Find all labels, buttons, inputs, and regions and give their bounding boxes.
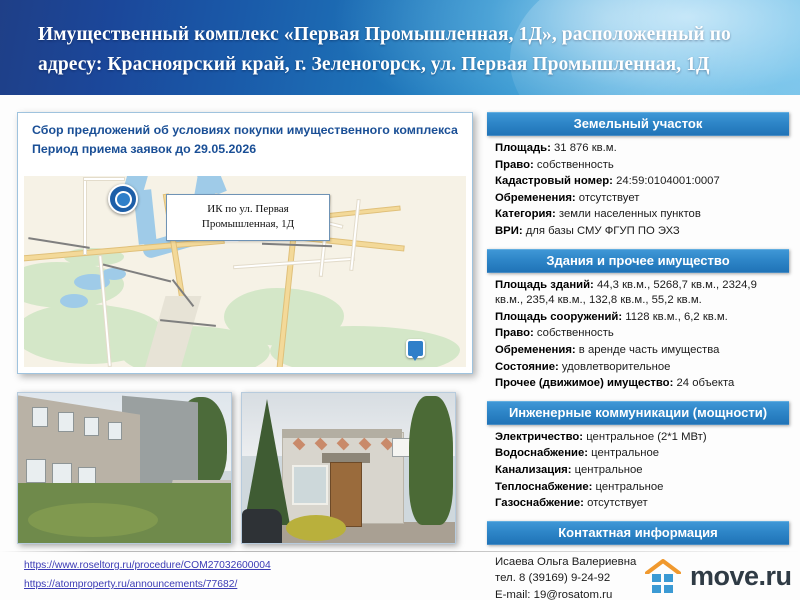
info-row: Площадь сооружений: 1128 кв.м., 6,2 кв.м… xyxy=(495,310,787,326)
map-marker-secondary[interactable] xyxy=(406,339,425,358)
grid-cell xyxy=(652,585,661,593)
map-callout-label: ИК по ул. Первая Промышленная, 1Д xyxy=(166,194,330,241)
info-value: 31 876 кв.м. xyxy=(551,142,617,154)
page-title-line1: Имущественный комплекс «Первая Промышлен… xyxy=(38,24,731,45)
map-road-minor xyxy=(84,178,124,180)
info-label: Газоснабжение: xyxy=(495,497,584,509)
map-callout-line2: Промышленная, 1Д xyxy=(171,217,325,232)
map-road-minor xyxy=(84,180,86,254)
footer-divider xyxy=(0,551,800,552)
property-photo-building[interactable] xyxy=(17,392,232,544)
info-label: Право: xyxy=(495,159,534,171)
section-body-utilities: Электричество: центральное (2*1 МВт) Вод… xyxy=(487,430,789,512)
info-value: центральное xyxy=(588,447,659,459)
map-caption-line2: комплекса xyxy=(393,123,458,137)
info-row: Состояние: удовлетворительное xyxy=(495,360,787,376)
link-roseltorg[interactable]: https://www.roseltorg.ru/procedure/COM27… xyxy=(24,556,271,575)
map-marker-dot xyxy=(115,191,132,208)
section-header-land: Земельный участок xyxy=(487,112,789,136)
info-value: центральное xyxy=(592,481,663,493)
info-label: Право: xyxy=(495,327,534,339)
info-panel: Земельный участок Площадь: 31 876 кв.м. … xyxy=(487,112,789,603)
info-value: центральное xyxy=(572,464,643,476)
info-row: Обременения: в аренде часть имущества xyxy=(495,343,787,359)
section-header-buildings: Здания и прочее имущество xyxy=(487,249,789,273)
photo-window xyxy=(84,417,99,436)
info-label: Состояние: xyxy=(495,361,559,373)
section-header-utilities: Инженерные коммуникации (мощности) xyxy=(487,401,789,425)
info-row: Право: собственность xyxy=(495,158,787,174)
info-label: Кадастровый номер: xyxy=(495,175,613,187)
header-banner: Имущественный комплекс «Первая Промышлен… xyxy=(0,0,800,95)
page-title: Имущественный комплекс «Первая Промышлен… xyxy=(38,20,768,80)
info-row: Теплоснабжение: центральное xyxy=(495,480,787,496)
info-label: Канализация: xyxy=(495,464,572,476)
grid-cell xyxy=(664,585,673,593)
property-photo-house[interactable] xyxy=(241,392,456,544)
map-caption-line1: Сбор предложений об условиях покупки иму… xyxy=(32,123,390,137)
info-value: собственность xyxy=(534,159,614,171)
info-label: Категория: xyxy=(495,208,556,220)
brand-name: move.ru xyxy=(690,561,792,592)
info-row: Прочее (движимое) имущество: 24 объекта xyxy=(495,376,787,392)
info-label: Прочее (движимое) имущество: xyxy=(495,377,673,389)
photo-car xyxy=(242,509,282,543)
grid-cell xyxy=(664,574,673,582)
spacer xyxy=(487,393,789,401)
photo-window xyxy=(32,407,48,427)
info-value: земли населенных пунктов xyxy=(556,208,701,220)
map-view[interactable]: ИК по ул. Первая Промышленная, 1Д xyxy=(24,176,466,367)
info-value: 24 объекта xyxy=(673,377,734,389)
map-lake xyxy=(60,294,88,308)
photo-bush xyxy=(409,396,453,525)
info-label: Обременения: xyxy=(495,344,576,356)
info-value: отсутствует xyxy=(576,192,640,204)
info-row: Площадь зданий: 44,3 кв.м., 5268,7 кв.м.… xyxy=(495,278,787,309)
map-caption-deadline: Период приема заявок до 29.05.2026 xyxy=(32,141,460,158)
info-row: Право: собственность xyxy=(495,326,787,342)
info-label: Обременения: xyxy=(495,192,576,204)
info-value: собственность xyxy=(534,327,614,339)
info-value: 1128 кв.м., 6,2 кв.м. xyxy=(622,311,728,323)
section-header-contacts: Контактная информация xyxy=(487,521,789,545)
info-value: удовлетворительное xyxy=(559,361,671,373)
photo-window xyxy=(108,422,122,440)
info-label: ВРИ: xyxy=(495,225,523,237)
slide-root: Имущественный комплекс «Первая Промышлен… xyxy=(0,0,800,600)
info-label: Теплоснабжение: xyxy=(495,481,592,493)
brand-logo[interactable]: move.ru xyxy=(645,559,792,593)
photo-grass-patch xyxy=(28,503,158,537)
map-caption: Сбор предложений об условиях покупки иму… xyxy=(18,113,472,163)
info-label: Площадь зданий: xyxy=(495,279,594,291)
photo-window xyxy=(58,412,74,432)
photo-flowerbed xyxy=(286,515,346,541)
spacer xyxy=(487,513,789,521)
grid-icon xyxy=(652,574,673,593)
info-value: отсутствует xyxy=(584,497,648,509)
grid-cell xyxy=(652,574,661,582)
link-atomproperty[interactable]: https://atomproperty.ru/announcements/77… xyxy=(24,575,271,594)
info-row: ВРИ: для базы СМУ ФГУП ПО ЭХЗ xyxy=(495,224,787,240)
info-row: Обременения: отсутствует xyxy=(495,191,787,207)
footer-links: https://www.roseltorg.ru/procedure/COM27… xyxy=(24,556,271,594)
info-row: Категория: земли населенных пунктов xyxy=(495,207,787,223)
info-value: для базы СМУ ФГУП ПО ЭХЗ xyxy=(523,225,680,237)
info-row: Водоснабжение: центральное xyxy=(495,446,787,462)
spacer xyxy=(487,241,789,249)
section-body-buildings: Площадь зданий: 44,3 кв.м., 5268,7 кв.м.… xyxy=(487,278,789,392)
info-value: в аренде часть имущества xyxy=(576,344,720,356)
info-label: Площадь: xyxy=(495,142,551,154)
section-body-land: Площадь: 31 876 кв.м. Право: собственнос… xyxy=(487,141,789,240)
roof-icon xyxy=(645,559,681,574)
info-row: Электричество: центральное (2*1 МВт) xyxy=(495,430,787,446)
info-row: Кадастровый номер: 24:59:0104001:0007 xyxy=(495,174,787,190)
photo-window xyxy=(292,465,328,505)
info-row: Канализация: центральное xyxy=(495,463,787,479)
photo-window xyxy=(26,459,46,483)
map-marker-primary[interactable] xyxy=(108,184,138,214)
info-label: Площадь сооружений: xyxy=(495,311,622,323)
info-value: 24:59:0104001:0007 xyxy=(613,175,720,187)
info-row: Площадь: 31 876 кв.м. xyxy=(495,141,787,157)
info-label: Электричество: xyxy=(495,431,583,443)
info-value: центральное (2*1 МВт) xyxy=(583,431,707,443)
info-label: Водоснабжение: xyxy=(495,447,588,459)
house-icon xyxy=(645,559,681,593)
page-title-line2: адресу: Красноярский край, г. Зеленогорс… xyxy=(38,54,710,75)
info-row: Газоснабжение: отсутствует xyxy=(495,496,787,512)
map-callout-line1: ИК по ул. Первая xyxy=(171,202,325,217)
map-card: Сбор предложений об условиях покупки иму… xyxy=(17,112,473,374)
